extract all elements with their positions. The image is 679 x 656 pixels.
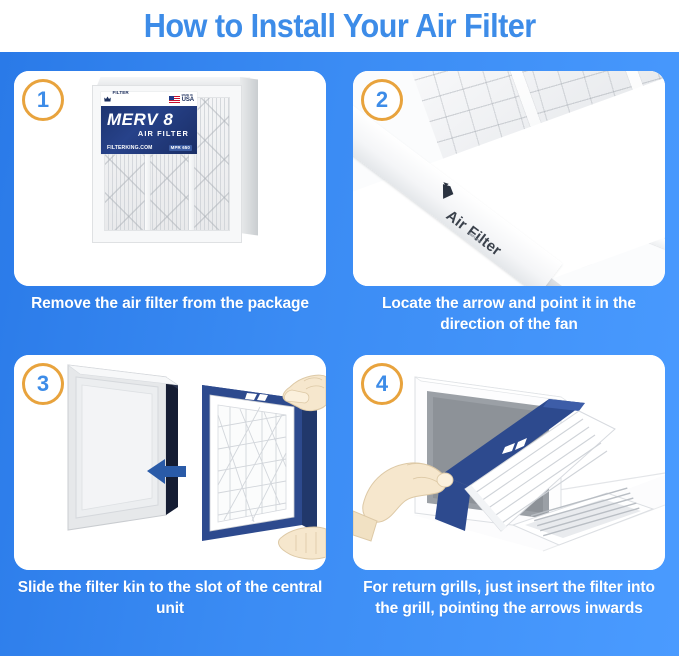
central-unit-housing bbox=[68, 365, 178, 530]
filter-front-face: FILTER KING MADE IN bbox=[92, 85, 242, 243]
country-label: USA bbox=[182, 97, 194, 103]
step-1-number: 1 bbox=[37, 89, 49, 111]
air-filter-photo: FILTER KING MADE IN bbox=[92, 77, 258, 249]
step-4-caption: For return grills, just insert the filte… bbox=[353, 577, 665, 619]
step-3-badge: 3 bbox=[22, 363, 64, 405]
merv-product-label: FILTER KING MADE IN bbox=[101, 92, 197, 154]
label-blue-panel: MERV 8 AIR FILTER FILTERKING.COM MPR 650 bbox=[101, 106, 197, 154]
mpr-rating-badge: MPR 650 bbox=[169, 145, 192, 151]
label-bottom-row: FILTERKING.COM MPR 650 bbox=[107, 145, 192, 152]
step-card-3[interactable]: 3 Slide the filter kin to the slot of th… bbox=[14, 355, 326, 655]
step-3-caption: Slide the filter kin to the slot of the … bbox=[14, 577, 326, 619]
page-title: How to Install Your Air Filter bbox=[144, 7, 536, 45]
infographic-root: How to Install Your Air Filter bbox=[0, 0, 679, 656]
filter-side-edge bbox=[240, 77, 258, 236]
air-filter-subtitle: AIR FILTER bbox=[107, 129, 191, 138]
label-top-row: FILTER KING MADE IN bbox=[101, 92, 197, 106]
merv-rating-text: MERV 8 bbox=[107, 111, 191, 128]
step-3-number: 3 bbox=[37, 373, 49, 395]
step-4-badge: 4 bbox=[361, 363, 403, 405]
brand-line-1: FILTER bbox=[113, 90, 129, 95]
step-4-number: 4 bbox=[376, 373, 388, 395]
step-card-1[interactable]: FILTER KING MADE IN bbox=[14, 71, 326, 359]
steps-background: FILTER KING MADE IN bbox=[0, 52, 679, 656]
step-1-caption: Remove the air filter from the package bbox=[14, 293, 326, 314]
step-card-4[interactable]: 4 For return grills, just insert the fil… bbox=[353, 355, 665, 655]
lower-hand bbox=[279, 527, 326, 559]
step-2-badge: 2 bbox=[361, 79, 403, 121]
made-in-usa-text: MADE IN USA bbox=[182, 95, 194, 104]
step-card-2[interactable]: Air Filter AIRFLOW 2 Locate the arrow an… bbox=[353, 71, 665, 359]
crown-icon bbox=[104, 96, 111, 102]
steps-grid: FILTER KING MADE IN bbox=[0, 52, 679, 656]
step-2-caption: Locate the arrow and point it in the dir… bbox=[353, 293, 665, 335]
website-text: FILTERKING.COM bbox=[107, 145, 153, 151]
usa-flag-icon bbox=[169, 96, 180, 103]
step-2-number: 2 bbox=[376, 89, 388, 111]
step-1-badge: 1 bbox=[22, 79, 64, 121]
header: How to Install Your Air Filter bbox=[0, 0, 679, 52]
made-in-usa-lockup: MADE IN USA bbox=[169, 95, 194, 104]
